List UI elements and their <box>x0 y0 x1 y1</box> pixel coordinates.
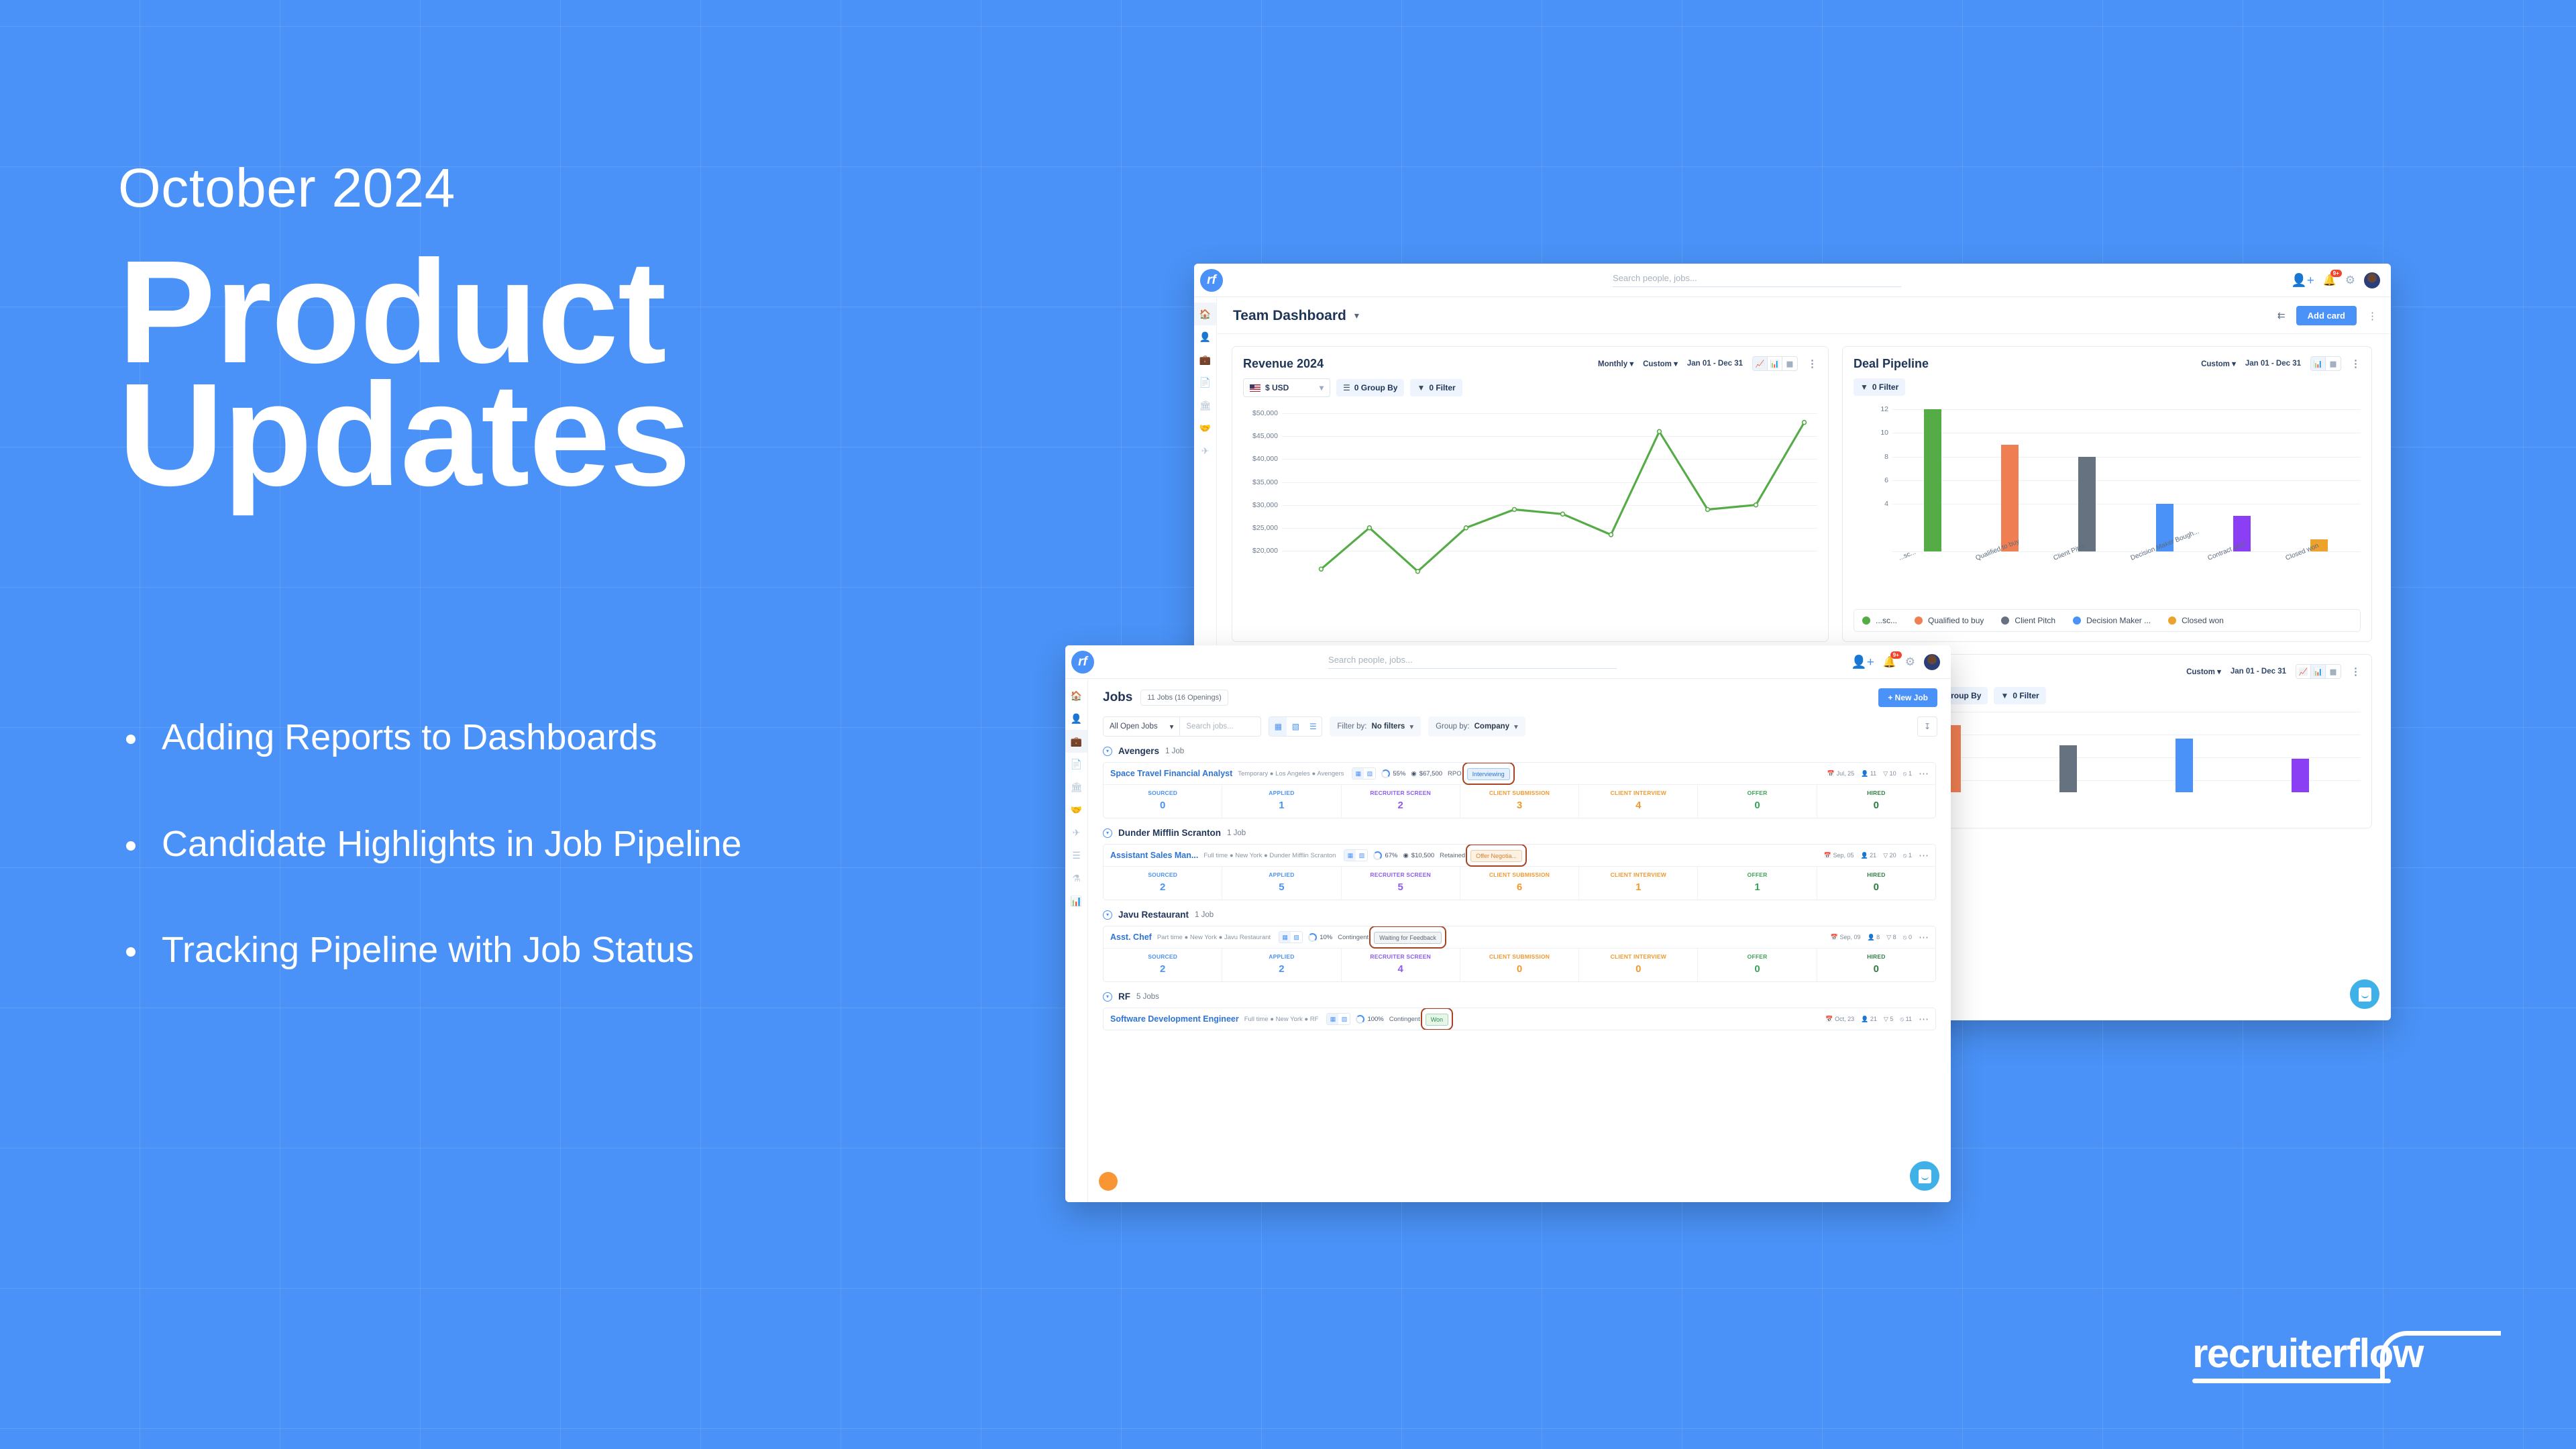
contact-card-icon: 📄 <box>1071 759 1082 770</box>
stage-column-header: SOURCED <box>1104 785 1222 796</box>
scope-value: All Open Jobs <box>1110 722 1158 731</box>
legend-entry: Decision Maker ... <box>2073 616 2151 625</box>
filter-by-label: Filter by: <box>1337 722 1366 731</box>
stage-column-header: CLIENT INTERVIEW <box>1579 867 1698 878</box>
stage-column-header: CLIENT INTERVIEW <box>1579 949 1698 960</box>
annotation-box <box>1466 844 1527 867</box>
job-meta: Part time ● New York ● Javu Restaurant <box>1157 934 1271 941</box>
job-title[interactable]: Asst. Chef <box>1110 932 1152 942</box>
grid-view-icon[interactable]: ▦ <box>1327 1014 1338 1024</box>
search-input[interactable]: Search people, jobs... <box>1613 273 1901 287</box>
stage-count[interactable]: 2 <box>1222 960 1341 981</box>
y-tick-label: 12 <box>1880 405 1888 413</box>
stage-count[interactable]: 0 <box>1460 960 1579 981</box>
chat-bubble-icon <box>1919 1169 1931 1183</box>
table-view-icon[interactable]: ▦ <box>2326 357 2341 370</box>
group-by-chip[interactable]: ☰0 Group By <box>1336 379 1404 396</box>
checklist-icon: ☰ <box>1072 850 1081 861</box>
job-card[interactable]: Assistant Sales Man...Full time ● New Yo… <box>1103 844 1936 900</box>
rf-brand-icon[interactable]: rf <box>1071 651 1094 674</box>
stage-column-header: RECRUITER SCREEN <box>1342 949 1460 960</box>
send-icon: ✈ <box>1201 445 1210 457</box>
grid-view-icon[interactable]: ▦ <box>1279 932 1291 943</box>
stage-count[interactable]: 0 <box>1698 960 1817 981</box>
job-blocked: ⦸ 1 <box>1903 770 1912 777</box>
stage-count[interactable]: 1 <box>1222 796 1341 818</box>
person-icon: 👤 <box>1071 713 1082 724</box>
job-date: 📅 Sep, 05 <box>1824 852 1854 859</box>
job-date: 📅 Jul, 25 <box>1827 770 1854 777</box>
job-group-header[interactable]: ▾Javu Restaurant1 Job <box>1088 900 1951 920</box>
analytics-icon: 📊 <box>1071 896 1082 907</box>
stage-count[interactable]: 2 <box>1104 960 1222 981</box>
sidebar-item-jobs[interactable]: 💼 <box>1194 348 1216 371</box>
job-group-header[interactable]: ▾RF5 Jobs <box>1088 982 1951 1002</box>
dashboard-topbar: rf Search people, jobs... 👤+ 🔔 9+ ⚙ <box>1194 264 2391 297</box>
job-card[interactable]: Asst. ChefPart time ● New York ● Javu Re… <box>1103 926 1936 982</box>
job-stats: 📅 Sep, 09👤 8▽ 8⦸ 0⋯ <box>1831 931 1929 943</box>
range-preset-value: Custom <box>2201 360 2230 368</box>
list-item: Tracking Pipeline with Job Status <box>118 930 1091 970</box>
progress-ring-icon <box>1356 1015 1364 1024</box>
job-engagement-type: Contingent <box>1389 1016 1420 1023</box>
avatar[interactable] <box>2364 272 2380 288</box>
y-tick-label: 8 <box>1884 453 1888 461</box>
sidebar-item-deals[interactable]: 🤝 <box>1194 417 1216 439</box>
list-item: Adding Reports to Dashboards <box>118 718 1091 757</box>
stage-count[interactable]: 0 <box>1104 796 1222 818</box>
topbar-actions: 👤+ 🔔 9+ ⚙ <box>2291 272 2391 288</box>
money-icon: ◉ <box>1403 852 1409 859</box>
notification-count-badge: 9+ <box>2330 270 2342 278</box>
granularity-select[interactable]: Monthly ▾ <box>1598 359 1633 368</box>
stage-column-header: CLIENT SUBMISSION <box>1460 785 1579 796</box>
chevron-down-icon: ▾ <box>1409 722 1413 731</box>
legend-label: Qualified to buy <box>1928 616 1984 625</box>
bar[interactable] <box>2001 445 2019 551</box>
job-status-highlight: Interviewing <box>1467 767 1510 780</box>
chart-type-toggle[interactable]: 📈 📊 ▦ <box>2296 664 2341 679</box>
chevron-down-icon[interactable]: ▾ <box>1103 992 1112 1002</box>
legend-label: ...sc... <box>1876 616 1897 625</box>
deal-card-header: Deal Pipeline Custom ▾ Jan 01 - Dec 31 📊… <box>1854 356 2361 371</box>
funnel-icon: ▼ <box>1860 382 1868 392</box>
deal-card-controls: Custom ▾ Jan 01 - Dec 31 📊 ▦ ⋮ <box>2201 356 2361 371</box>
y-tick-label: $50,000 <box>1252 409 1278 417</box>
new-job-button[interactable]: + New Job <box>1878 688 1937 707</box>
stage-count[interactable]: 0 <box>1817 796 1935 818</box>
handshake-icon: 🤝 <box>1071 804 1082 816</box>
gear-icon[interactable]: ⚙ <box>1905 655 1915 669</box>
sidebar-item-campaigns[interactable]: ✈ <box>1194 439 1216 462</box>
job-filters: ▽ 8 <box>1886 934 1896 941</box>
jobs-group-list: ▾Avengers1 JobSpace Travel Financial Ana… <box>1088 737 1951 1030</box>
dashboard-header: Team Dashboard ▾ ⇇ Add card ⋮ <box>1217 297 2391 325</box>
job-candidates: 👤 8 <box>1867 934 1880 941</box>
funnel-icon: ▼ <box>2000 691 2008 700</box>
sidebar-item-companies[interactable]: 🏛 <box>1065 775 1087 798</box>
job-view-toggle[interactable]: ▦▧ <box>1326 1013 1350 1025</box>
jobs-scope-search[interactable]: All Open Jobs▾ Search jobs... <box>1103 716 1261 737</box>
stage-column-header: SOURCED <box>1104 949 1222 960</box>
granularity-value: Monthly <box>1598 360 1627 368</box>
legend-label: Decision Maker ... <box>2086 616 2151 625</box>
bar[interactable] <box>2059 745 2077 792</box>
notification-count-badge: 9+ <box>1890 651 1902 659</box>
stage-count[interactable]: 2 <box>1104 878 1222 900</box>
bank-icon: 🏛 <box>1199 400 1212 411</box>
bar[interactable] <box>2078 457 2096 551</box>
grid-view-icon[interactable]: ▦ <box>1344 850 1356 861</box>
global-search[interactable]: Search people, jobs... <box>1223 273 2291 287</box>
add-person-icon[interactable]: 👤+ <box>1851 654 1874 670</box>
sidebar-item-companies[interactable]: 🏛 <box>1194 394 1216 417</box>
stage-count[interactable]: 1 <box>1698 878 1817 900</box>
job-progress: 10% <box>1308 933 1332 942</box>
stage-count[interactable]: 4 <box>1342 960 1460 981</box>
list-item: Candidate Highlights in Job Pipeline <box>118 824 1091 864</box>
job-title[interactable]: Assistant Sales Man... <box>1110 851 1198 860</box>
job-card[interactable]: Software Development EngineerFull time ●… <box>1103 1008 1936 1030</box>
grid-view-icon[interactable]: ▦ <box>1352 768 1364 779</box>
job-view-toggle[interactable]: ▦▧ <box>1352 767 1376 780</box>
job-blocked: ⦸ 11 <box>1900 1016 1912 1023</box>
job-stats: 📅 Sep, 05👤 21▽ 20⦸ 1⋯ <box>1824 849 1929 861</box>
job-filters: ▽ 10 <box>1883 770 1896 777</box>
list-view-icon[interactable]: ☰ <box>1304 717 1322 736</box>
bar-slot[interactable] <box>2010 712 2126 792</box>
stage-column-header: OFFER <box>1698 949 1817 960</box>
send-icon: ✈ <box>1073 827 1081 839</box>
stage-count[interactable]: 5 <box>1342 878 1460 900</box>
kanban-view-icon[interactable]: ▧ <box>1287 717 1304 736</box>
stage-count[interactable]: 0 <box>1698 796 1817 818</box>
filter-label: 0 Filter <box>1872 382 1898 392</box>
stage-column-header: CLIENT SUBMISSION <box>1460 949 1579 960</box>
more-options-icon[interactable]: ⋯ <box>1919 767 1929 780</box>
recruit-card-controls: Custom ▾ Jan 01 - Dec 31 📈 📊 ▦ ⋮ <box>2186 664 2361 679</box>
more-options-icon[interactable]: ⋮ <box>1807 358 1817 370</box>
job-group-header[interactable]: ▾Avengers1 Job <box>1088 737 1951 756</box>
stage-count[interactable]: 0 <box>1579 960 1698 981</box>
company-name: Javu Restaurant <box>1118 910 1189 920</box>
sidebar-item-jobs[interactable]: 💼 <box>1065 730 1087 753</box>
group-by-value: Company <box>1474 722 1509 731</box>
sidebar-item-tasks[interactable]: ☰ <box>1065 844 1087 867</box>
job-status-highlight: Waiting for Feedback <box>1374 931 1442 943</box>
bar[interactable] <box>2292 759 2309 792</box>
company-name: Avengers <box>1118 746 1159 756</box>
stage-column-header: OFFER <box>1698 867 1817 878</box>
stage-count[interactable]: 0 <box>1817 960 1935 981</box>
filter-chip[interactable]: ▼0 Filter <box>1854 378 1905 396</box>
chevron-down-icon[interactable]: ▾ <box>1354 310 1359 321</box>
job-engagement-type: RPO <box>1448 770 1462 777</box>
stage-count[interactable]: 5 <box>1222 878 1341 900</box>
dashboard-cards: Revenue 2024 Monthly ▾ Custom ▾ Jan 01 -… <box>1217 334 2391 654</box>
chevron-down-icon: ▾ <box>1674 360 1678 368</box>
job-view-toggle[interactable]: ▦▧ <box>1344 849 1368 861</box>
job-count-label: 1 Job <box>1195 911 1214 919</box>
legend-entry: ...sc... <box>1862 616 1897 625</box>
sidebar-item-labs[interactable]: ⚗ <box>1065 867 1087 890</box>
kanban-view-icon[interactable]: ▧ <box>1364 768 1375 779</box>
chevron-down-icon: ▾ <box>2217 668 2221 676</box>
stage-values-row: 0123400 <box>1104 796 1935 818</box>
page-title: Jobs <box>1103 690 1132 705</box>
group-by-select[interactable]: Group by:Company▾ <box>1428 716 1525 737</box>
jobs-toolbar: All Open Jobs▾ Search jobs... ▦ ▧ ☰ Filt… <box>1088 707 1951 737</box>
chat-bubble-icon <box>2359 987 2371 1002</box>
filter-label: 0 Filter <box>2012 691 2039 700</box>
job-value-amount: $67,500 <box>1419 770 1442 777</box>
group-by-label: Group by: <box>1436 722 1470 731</box>
annotation-box <box>1462 762 1515 785</box>
notifications-bell-icon[interactable]: 🔔 9+ <box>1883 655 1896 669</box>
revenue-card[interactable]: Revenue 2024 Monthly ▾ Custom ▾ Jan 01 -… <box>1232 346 1829 642</box>
chevron-down-icon: ▾ <box>2232 360 2236 368</box>
line-chart-icon[interactable]: 📈 <box>2296 665 2311 678</box>
sidebar-item-reports[interactable]: 📊 <box>1065 890 1087 912</box>
topbar-actions: 👤+ 🔔 9+ ⚙ <box>1851 654 1951 670</box>
global-search[interactable]: Search people, jobs... <box>1094 655 1851 669</box>
stage-count[interactable]: 3 <box>1460 796 1579 818</box>
card-title: Deal Pipeline <box>1854 357 1929 371</box>
bar[interactable] <box>2176 739 2193 792</box>
intercom-chat-button[interactable] <box>1910 1161 1939 1191</box>
avatar[interactable] <box>1924 654 1940 670</box>
deal-bar-chart: 1210864 ...sc...Qualified to buyClient P… <box>1854 402 2361 570</box>
date-range-label: Jan 01 - Dec 31 <box>2245 360 2301 368</box>
legend-color-dot <box>1915 616 1923 625</box>
deal-pipeline-card[interactable]: Deal Pipeline Custom ▾ Jan 01 - Dec 31 📊… <box>1842 346 2372 642</box>
job-blocked: ⦸ 1 <box>1903 852 1912 859</box>
kanban-view-icon[interactable]: ▧ <box>1356 850 1367 861</box>
annotation-box <box>1421 1008 1453 1030</box>
sidebar-item-people[interactable]: 👤 <box>1065 707 1087 730</box>
range-preset-select[interactable]: Custom ▾ <box>2201 359 2236 368</box>
job-value: ◉$10,500 <box>1403 852 1435 859</box>
y-tick-label: $30,000 <box>1252 501 1278 509</box>
job-summary-row: Asst. ChefPart time ● New York ● Javu Re… <box>1104 926 1935 948</box>
bar-chart-icon[interactable]: 📊 <box>2311 665 2326 678</box>
search-input[interactable]: Search people, jobs... <box>1328 655 1617 669</box>
progress-percent: 100% <box>1367 1016 1383 1023</box>
more-options-icon[interactable]: ⋮ <box>2351 665 2361 678</box>
chevron-down-icon: ▾ <box>1170 722 1174 731</box>
job-view-toggle[interactable]: ▦▧ <box>1279 931 1303 943</box>
sidebar-item-deals[interactable]: 🤝 <box>1065 798 1087 821</box>
person-icon: 👤 <box>1199 331 1211 343</box>
company-name: Dunder Mifflin Scranton <box>1118 828 1221 838</box>
more-options-icon[interactable]: ⋮ <box>2367 310 2377 322</box>
job-title[interactable]: Software Development Engineer <box>1110 1014 1239 1024</box>
revenue-line-chart: $50,000$45,000$40,000$35,000$30,000$25,0… <box>1243 404 1817 582</box>
flask-icon: ⚗ <box>1072 873 1081 884</box>
jobs-search-input[interactable]: Search jobs... <box>1180 717 1260 736</box>
logo-swoop <box>2380 1331 2501 1383</box>
stage-column-header: APPLIED <box>1222 867 1341 878</box>
stage-count[interactable]: 6 <box>1460 878 1579 900</box>
revenue-card-filters: $ USD ▾ ☰0 Group By ▼0 Filter <box>1243 378 1817 397</box>
filter-by-select[interactable]: Filter by:No filters▾ <box>1330 716 1421 737</box>
filter-label: 0 Filter <box>1429 383 1455 392</box>
gear-icon[interactable]: ⚙ <box>2345 274 2355 287</box>
progress-ring-icon <box>1373 851 1382 860</box>
job-progress: 55% <box>1381 769 1405 778</box>
legend-entry: Qualified to buy <box>1915 616 1984 625</box>
view-toggle[interactable]: ▦ ▧ ☰ <box>1269 716 1322 737</box>
more-options-icon[interactable]: ⋯ <box>1919 849 1929 861</box>
add-person-icon[interactable]: 👤+ <box>2291 272 2314 288</box>
sidebar-item-contacts[interactable]: 📄 <box>1065 753 1087 775</box>
job-filters: ▽ 20 <box>1883 852 1896 859</box>
range-preset-select[interactable]: Custom ▾ <box>2186 667 2221 676</box>
job-card[interactable]: Space Travel Financial AnalystTemporary … <box>1103 762 1936 818</box>
x-axis-labels: ...sc...Qualified to buyClient PitchDeci… <box>1894 557 2358 564</box>
bar[interactable] <box>1924 409 1941 551</box>
currency-select[interactable]: $ USD ▾ <box>1243 378 1330 397</box>
more-options-icon[interactable]: ⋯ <box>1919 1013 1929 1025</box>
job-candidates: 👤 21 <box>1861 1016 1877 1023</box>
range-preset-select[interactable]: Custom ▾ <box>1643 359 1678 368</box>
job-progress: 67% <box>1373 851 1397 860</box>
chevron-down-icon: ▾ <box>1514 722 1518 731</box>
scope-select[interactable]: All Open Jobs▾ <box>1104 717 1180 736</box>
layers-icon: ☰ <box>1343 383 1350 392</box>
home-icon: 🏠 <box>1071 690 1082 702</box>
jobs-topbar: rf Search people, jobs... 👤+ 🔔 9+ ⚙ <box>1065 645 1951 679</box>
recruiterflow-logo: recruiterflow <box>2192 1330 2423 1383</box>
share-icon[interactable]: ⇇ <box>2277 310 2286 321</box>
bar-chart-icon[interactable]: 📊 <box>1768 357 1782 370</box>
revenue-line-path <box>1282 404 1817 582</box>
legend-entry: Closed won <box>2168 616 2224 625</box>
table-view-icon[interactable]: ▦ <box>1782 357 1797 370</box>
stage-column-header: CLIENT INTERVIEW <box>1579 785 1698 796</box>
sidebar-item-campaigns[interactable]: ✈ <box>1065 821 1087 844</box>
stage-header-row: SOURCEDAPPLIEDRECRUITER SCREENCLIENT SUB… <box>1104 948 1935 960</box>
stage-count[interactable]: 1 <box>1579 878 1698 900</box>
download-button[interactable]: ↧ <box>1917 716 1937 737</box>
bar-chart-icon[interactable]: 📊 <box>2311 357 2326 370</box>
job-status-highlight: Offer Negotia... <box>1470 849 1522 861</box>
job-engagement-type: Retained <box>1440 852 1465 859</box>
jobs-count-badge: 11 Jobs (16 Openings) <box>1140 690 1228 706</box>
briefcase-icon: 💼 <box>1199 354 1211 366</box>
job-summary-row: Assistant Sales Man...Full time ● New Yo… <box>1104 845 1935 866</box>
chart-type-toggle[interactable]: 📊 ▦ <box>2310 356 2341 371</box>
sidebar-item-people[interactable]: 👤 <box>1194 325 1216 348</box>
stage-count[interactable]: 0 <box>1817 878 1935 900</box>
job-meta: Full time ● New York ● RF <box>1244 1016 1319 1023</box>
chart-type-toggle[interactable]: 📈 📊 ▦ <box>1752 356 1798 371</box>
money-icon: ◉ <box>1411 770 1416 777</box>
filter-chip[interactable]: ▼0 Filter <box>1410 379 1462 396</box>
sidebar-item-home[interactable]: 🏠 <box>1194 303 1216 325</box>
date-range-label: Jan 01 - Dec 31 <box>1687 360 1743 368</box>
progress-percent: 55% <box>1393 770 1405 777</box>
stage-column-header: CLIENT SUBMISSION <box>1460 867 1579 878</box>
grid-view-icon[interactable]: ▦ <box>1269 717 1287 736</box>
us-flag-icon <box>1250 384 1260 392</box>
home-icon: 🏠 <box>1199 309 1211 320</box>
rf-brand-icon[interactable]: rf <box>1200 269 1223 292</box>
kanban-view-icon[interactable]: ▧ <box>1291 932 1302 943</box>
chevron-down-icon: ▾ <box>1320 383 1324 392</box>
stage-header-row: SOURCEDAPPLIEDRECRUITER SCREENCLIENT SUB… <box>1104 784 1935 796</box>
chevron-down-icon[interactable]: ▾ <box>1103 747 1112 756</box>
sidebar-item-contacts[interactable]: 📄 <box>1194 371 1216 394</box>
sidebar-item-home[interactable]: 🏠 <box>1065 684 1087 707</box>
chevron-down-icon[interactable]: ▾ <box>1103 828 1112 838</box>
kanban-view-icon[interactable]: ▧ <box>1338 1014 1350 1024</box>
intercom-chat-button[interactable] <box>2350 979 2379 1009</box>
stage-header-row: SOURCEDAPPLIEDRECRUITER SCREENCLIENT SUB… <box>1104 866 1935 878</box>
more-options-icon[interactable]: ⋯ <box>1919 931 1929 943</box>
notifications-bell-icon[interactable]: 🔔 9+ <box>2323 274 2337 287</box>
job-status-highlight: Won <box>1426 1013 1448 1025</box>
filter-chip[interactable]: ▼0 Filter <box>1994 687 2045 704</box>
stage-column-header: RECRUITER SCREEN <box>1342 785 1460 796</box>
job-date: 📅 Oct, 23 <box>1825 1016 1854 1023</box>
job-candidates: 👤 11 <box>1861 770 1876 777</box>
sidebar-nav: 🏠 👤 💼 📄 🏛 🤝 ✈ ☰ ⚗ 📊 <box>1065 679 1088 1202</box>
jobs-window[interactable]: rf Search people, jobs... 👤+ 🔔 9+ ⚙ 🏠 👤 … <box>1065 645 1951 1202</box>
help-fab-button[interactable] <box>1099 1172 1118 1191</box>
currency-value: $ USD <box>1265 383 1289 392</box>
legend-color-dot <box>1862 616 1870 625</box>
bar-slot[interactable] <box>2242 712 2358 792</box>
line-chart-icon[interactable]: 📈 <box>1753 357 1768 370</box>
date-range-label: Jan 01 - Dec 31 <box>2231 667 2286 676</box>
deal-card-filters: ▼0 Filter <box>1854 378 2361 396</box>
company-name: RF <box>1118 991 1130 1002</box>
job-title[interactable]: Space Travel Financial Analyst <box>1110 769 1232 778</box>
stage-count[interactable]: 4 <box>1579 796 1698 818</box>
briefcase-icon: 💼 <box>1071 736 1082 747</box>
stage-column-header: APPLIED <box>1222 785 1341 796</box>
progress-ring-icon <box>1381 769 1390 778</box>
job-group-header[interactable]: ▾Dunder Mifflin Scranton1 Job <box>1088 818 1951 838</box>
stage-count[interactable]: 2 <box>1342 796 1460 818</box>
chevron-down-icon[interactable]: ▾ <box>1103 910 1112 920</box>
y-tick-label: $35,000 <box>1252 478 1278 486</box>
slide-date: October 2024 <box>118 161 1091 216</box>
table-view-icon[interactable]: ▦ <box>2326 665 2341 678</box>
stage-column-header: HIRED <box>1817 949 1935 960</box>
job-summary-row: Space Travel Financial AnalystTemporary … <box>1104 763 1935 784</box>
job-meta: Temporary ● Los Angeles ● Avengers <box>1238 770 1344 777</box>
contact-card-icon: 📄 <box>1199 377 1211 388</box>
jobs-body: 🏠 👤 💼 📄 🏛 🤝 ✈ ☰ ⚗ 📊 Jobs 11 Jobs (16 Ope… <box>1065 679 1951 1202</box>
more-options-icon[interactable]: ⋮ <box>2351 358 2361 370</box>
job-count-label: 1 Job <box>1227 829 1246 837</box>
bar-slot[interactable] <box>2126 712 2242 792</box>
handshake-icon: 🤝 <box>1199 423 1211 434</box>
job-summary-row: Software Development EngineerFull time ●… <box>1104 1008 1935 1030</box>
stage-column-header: RECRUITER SCREEN <box>1342 867 1460 878</box>
stage-column-header: SOURCED <box>1104 867 1222 878</box>
add-card-button[interactable]: Add card <box>2296 306 2357 325</box>
bar-series <box>1894 712 2358 792</box>
progress-percent: 67% <box>1385 852 1397 859</box>
legend-label: Client Pitch <box>2015 616 2055 625</box>
job-count-label: 5 Jobs <box>1136 993 1159 1001</box>
y-tick-label: $20,000 <box>1252 547 1278 555</box>
range-preset-value: Custom <box>2186 668 2215 676</box>
page-title: Team Dashboard <box>1233 308 1346 324</box>
